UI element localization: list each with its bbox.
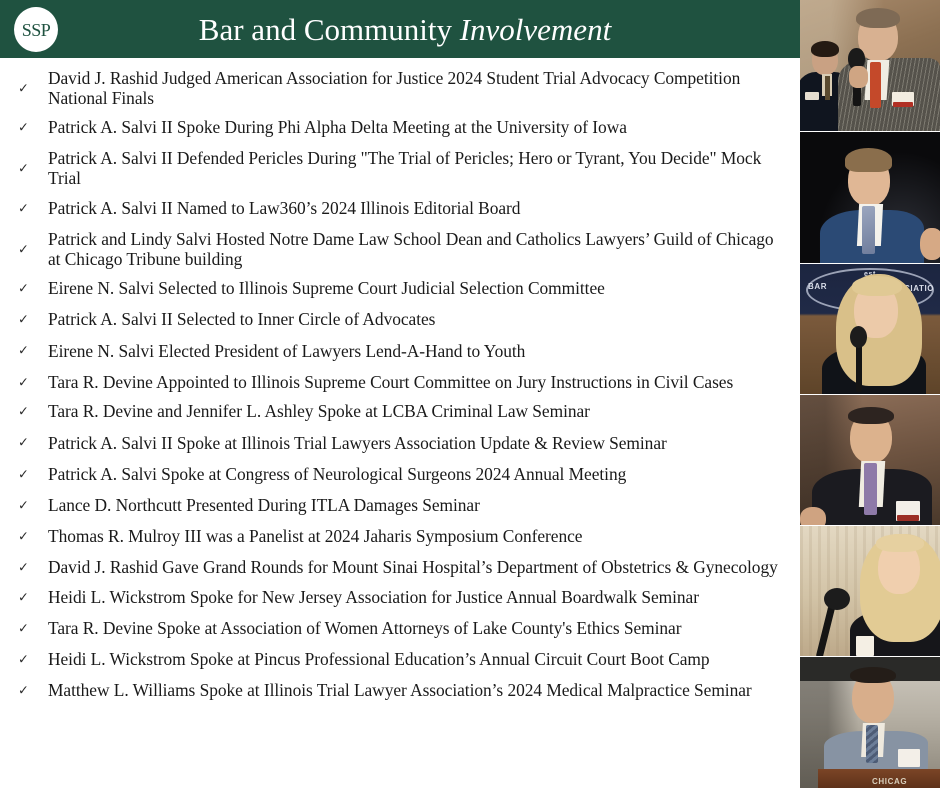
checkmark-icon: ✓ (18, 82, 29, 95)
list-item: ✓Eirene N. Salvi Elected President of La… (12, 342, 786, 362)
list-item: ✓Tara R. Devine Appointed to Illinois Su… (12, 373, 786, 393)
photo-woman-standing-microphone (800, 525, 940, 656)
list-item-label: David J. Rashid Judged American Associat… (48, 69, 786, 108)
page-title-regular: Bar and Community (199, 12, 452, 47)
list-item: ✓Tara R. Devine Spoke at Association of … (12, 619, 786, 639)
page-title-italic: Involvement (460, 12, 611, 47)
logo-label: SSP (22, 21, 51, 39)
photo-woman-bar-association: BAR est. 2 CIATIO (800, 263, 940, 394)
page-title: Bar and Community Involvement (0, 14, 800, 45)
checkmark-icon: ✓ (18, 622, 29, 635)
list-item-label: Thomas R. Mulroy III was a Panelist at 2… (48, 527, 786, 547)
list-item: ✓Lance D. Northcutt Presented During ITL… (12, 496, 786, 516)
checkmark-icon: ✓ (18, 283, 29, 296)
list-item: ✓David J. Rashid Gave Grand Rounds for M… (12, 558, 786, 578)
list-item-label: Patrick A. Salvi II Spoke During Phi Alp… (48, 118, 786, 138)
checkmark-icon: ✓ (18, 591, 29, 604)
list-item-label: Heidi L. Wickstrom Spoke at Pincus Profe… (48, 650, 786, 670)
list-item-label: Tara R. Devine and Jennifer L. Ashley Sp… (48, 402, 786, 422)
list-item: ✓Patrick A. Salvi II Selected to Inner C… (12, 310, 786, 330)
list-item-label: Lance D. Northcutt Presented During ITLA… (48, 496, 786, 516)
checkmark-icon: ✓ (18, 243, 29, 256)
checkmark-icon: ✓ (18, 314, 29, 327)
list-item-label: Patrick A. Salvi II Defended Pericles Du… (48, 149, 786, 188)
achievement-list: ✓David J. Rashid Judged American Associa… (12, 69, 786, 701)
content-area: ✓David J. Rashid Judged American Associa… (0, 58, 800, 788)
checkmark-icon: ✓ (18, 406, 29, 419)
photo-man-at-podium: CHICAG (800, 656, 940, 787)
list-item: ✓David J. Rashid Judged American Associa… (12, 69, 786, 108)
list-item: ✓Matthew L. Williams Spoke at Illinois T… (12, 681, 786, 701)
list-item: ✓Patrick A. Salvi II Spoke at Illinois T… (12, 434, 786, 454)
photo-man-blue-suit (800, 131, 940, 262)
checkmark-icon: ✓ (18, 437, 29, 450)
list-item-label: Tara R. Devine Spoke at Association of W… (48, 619, 786, 639)
list-item: ✓Heidi L. Wickstrom Spoke at Pincus Prof… (12, 650, 786, 670)
slide-root: SSP Bar and Community Involvement ✓David… (0, 0, 940, 788)
checkmark-icon: ✓ (18, 376, 29, 389)
list-item: ✓Eirene N. Salvi Selected to Illinois Su… (12, 279, 786, 299)
list-item-label: Heidi L. Wickstrom Spoke for New Jersey … (48, 588, 786, 608)
banner-text-left: BAR (808, 282, 827, 291)
list-item-label: Tara R. Devine Appointed to Illinois Sup… (48, 373, 786, 393)
checkmark-icon: ✓ (18, 122, 29, 135)
list-item-label: Eirene N. Salvi Elected President of Law… (48, 342, 786, 362)
list-item: ✓Heidi L. Wickstrom Spoke for New Jersey… (12, 588, 786, 608)
list-item-label: Patrick and Lindy Salvi Hosted Notre Dam… (48, 230, 786, 269)
photo-man-with-microphone (800, 0, 940, 131)
list-item: ✓Patrick A. Salvi II Spoke During Phi Al… (12, 118, 786, 138)
slide-header: SSP Bar and Community Involvement (0, 0, 800, 58)
checkmark-icon: ✓ (18, 530, 29, 543)
list-item-label: David J. Rashid Gave Grand Rounds for Mo… (48, 558, 786, 578)
checkmark-icon: ✓ (18, 653, 29, 666)
photo-strip: BAR est. 2 CIATIO (800, 0, 940, 788)
podium-label: CHICAG (872, 777, 907, 786)
checkmark-icon: ✓ (18, 202, 29, 215)
checkmark-icon: ✓ (18, 163, 29, 176)
list-item-label: Matthew L. Williams Spoke at Illinois Tr… (48, 681, 786, 701)
list-item-label: Patrick A. Salvi Spoke at Congress of Ne… (48, 465, 786, 485)
checkmark-icon: ✓ (18, 499, 29, 512)
list-item: ✓Patrick A. Salvi II Named to Law360’s 2… (12, 199, 786, 219)
list-item-label: Eirene N. Salvi Selected to Illinois Sup… (48, 279, 786, 299)
list-item: ✓Patrick A. Salvi Spoke at Congress of N… (12, 465, 786, 485)
checkmark-icon: ✓ (18, 685, 29, 698)
list-item: ✓Patrick A. Salvi II Defended Pericles D… (12, 149, 786, 188)
list-item: ✓Patrick and Lindy Salvi Hosted Notre Da… (12, 230, 786, 269)
list-item-label: Patrick A. Salvi II Named to Law360’s 20… (48, 199, 786, 219)
checkmark-icon: ✓ (18, 345, 29, 358)
checkmark-icon: ✓ (18, 561, 29, 574)
list-item: ✓Thomas R. Mulroy III was a Panelist at … (12, 527, 786, 547)
ssp-logo: SSP (14, 7, 58, 52)
list-item-label: Patrick A. Salvi II Spoke at Illinois Tr… (48, 434, 786, 454)
photo-man-purple-tie (800, 394, 940, 525)
list-item-label: Patrick A. Salvi II Selected to Inner Ci… (48, 310, 786, 330)
list-item: ✓Tara R. Devine and Jennifer L. Ashley S… (12, 402, 786, 422)
checkmark-icon: ✓ (18, 468, 29, 481)
